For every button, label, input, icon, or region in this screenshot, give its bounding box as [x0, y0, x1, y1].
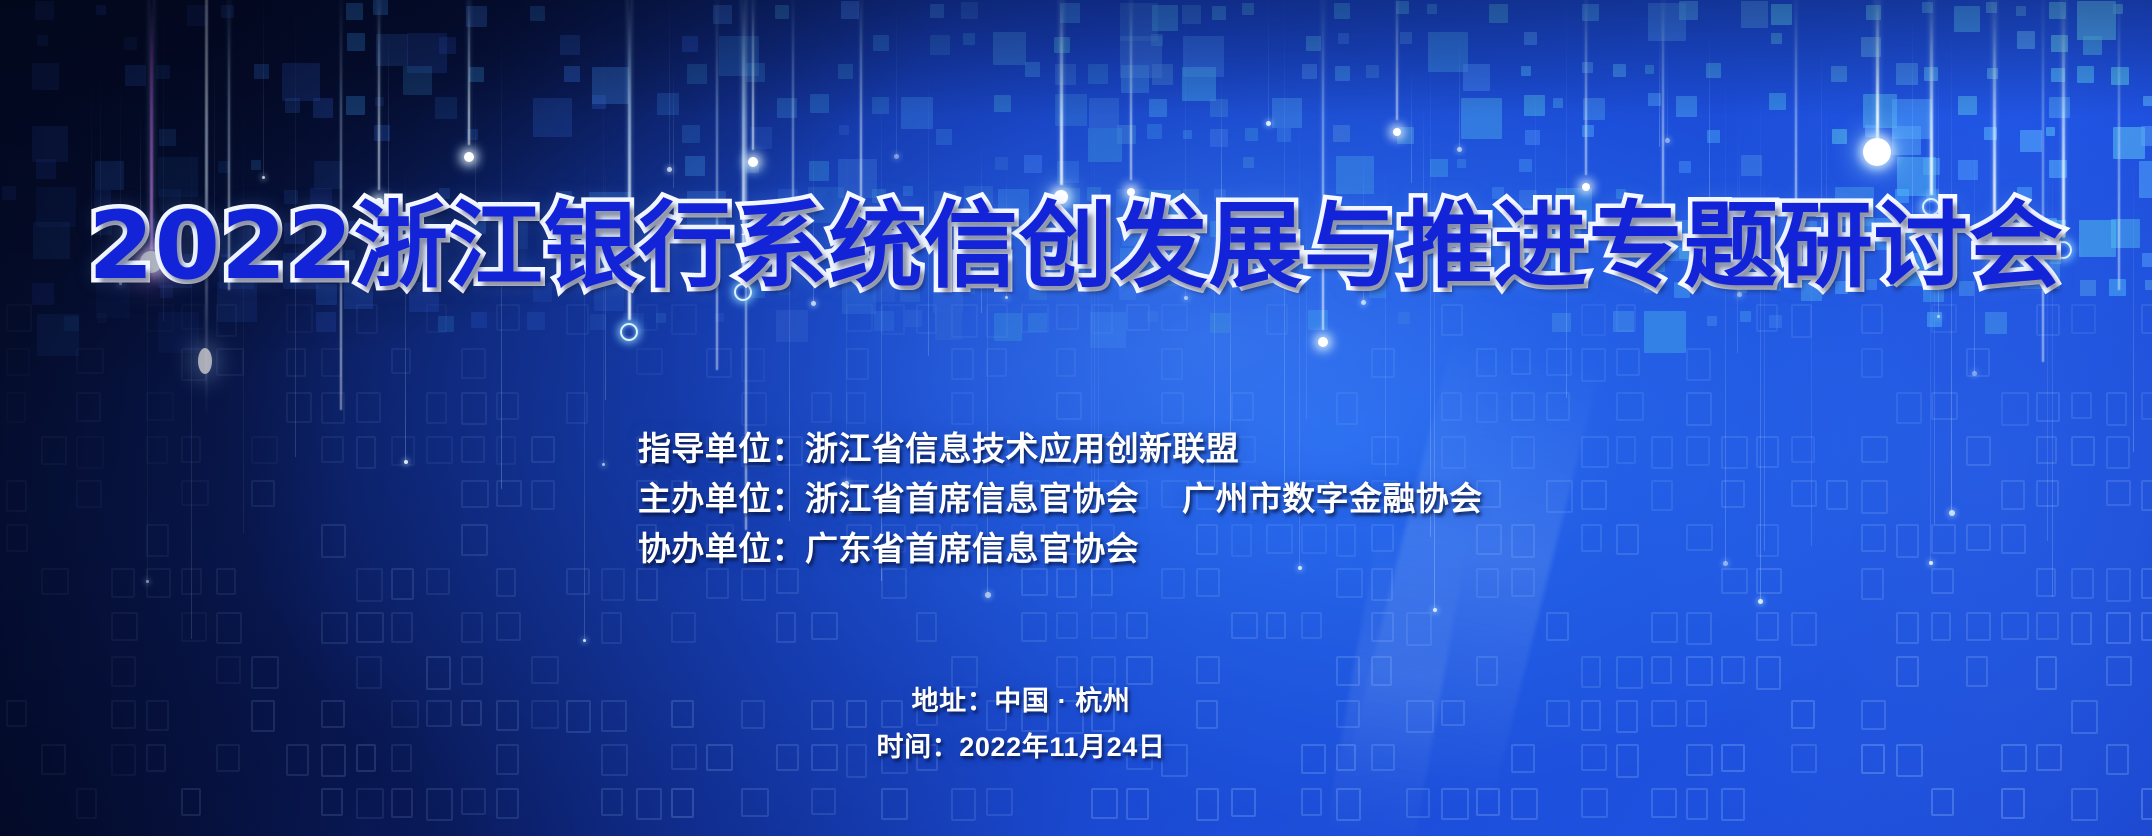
- organizer-line-host: 主办单位：浙江省首席信息官协会 广州市数字金融协会: [638, 474, 2152, 524]
- organizer-line-guidance: 指导单位：浙江省信息技术应用创新联盟: [638, 424, 2152, 474]
- event-address: 地址：中国 · 杭州: [0, 678, 2042, 724]
- organizer-line-coorganizer: 协办单位：广东省首席信息官协会: [638, 524, 2152, 574]
- banner-title-block: 2022浙江银行系统信创发展与推进专题研讨会: [0, 196, 2152, 298]
- event-datetime: 时间：2022年11月24日: [0, 724, 2042, 770]
- page-title: 2022浙江银行系统信创发展与推进专题研讨会: [88, 196, 2064, 298]
- organizer-list: 指导单位：浙江省信息技术应用创新联盟 主办单位：浙江省首席信息官协会 广州市数字…: [0, 424, 2152, 574]
- banner-canvas: 2022浙江银行系统信创发展与推进专题研讨会 指导单位：浙江省信息技术应用创新联…: [0, 0, 2152, 836]
- event-meta-block: 地址：中国 · 杭州 时间：2022年11月24日: [0, 678, 2152, 771]
